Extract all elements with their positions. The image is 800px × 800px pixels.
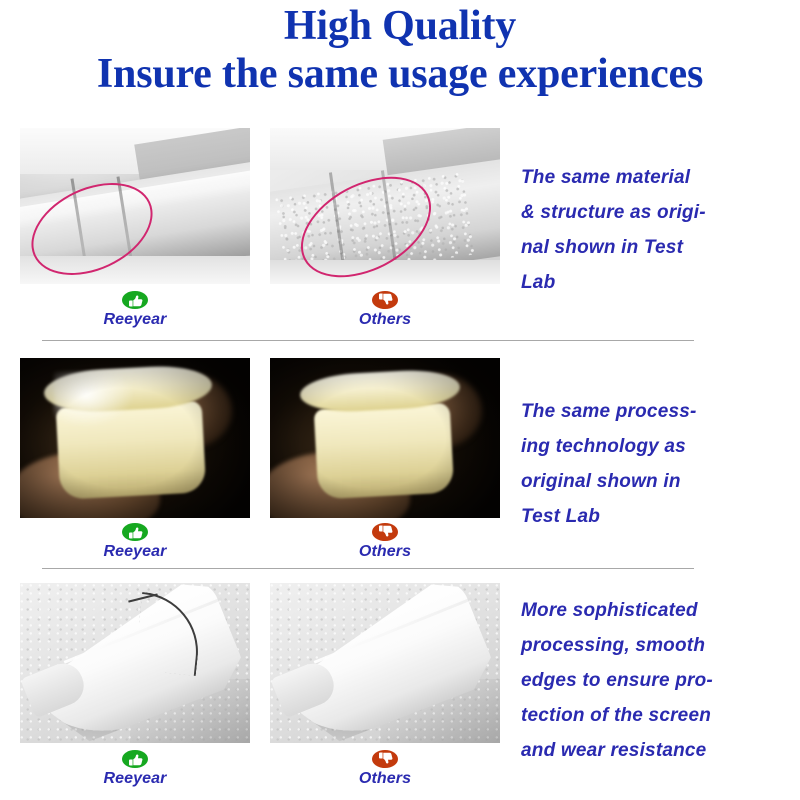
caption-label: Others — [359, 311, 411, 328]
caption-others-row1: Others — [270, 290, 500, 329]
page-title-line1: High Quality — [0, 4, 800, 49]
caption-label: Others — [359, 770, 411, 787]
thumbs-down-circle-icon — [270, 290, 500, 310]
product-photo-reeyear-row2 — [20, 358, 250, 518]
header-block: High Quality Insure the same usage exper… — [0, 0, 800, 98]
caption-reeyear-row3: Reeyear — [20, 749, 250, 788]
caption-label: Others — [359, 543, 411, 560]
caption-others-row2: Others — [270, 522, 500, 561]
feature-text-row3: More sophisticated processing, smooth ed… — [521, 593, 789, 768]
thumbs-down-circle-icon — [270, 522, 500, 542]
thumbs-up-circle-icon — [20, 290, 250, 310]
product-photo-others-row1 — [270, 128, 500, 284]
thumbs-up-circle-icon — [20, 749, 250, 769]
photo-vignette — [270, 358, 500, 518]
product-photo-others-row3 — [270, 583, 500, 743]
product-photo-reeyear-row1 — [20, 128, 250, 284]
page-title-line2: Insure the same usage experiences — [0, 51, 800, 98]
caption-label: Reeyear — [104, 543, 167, 560]
caption-others-row3: Others — [270, 749, 500, 788]
caption-reeyear-row1: Reeyear — [20, 290, 250, 329]
thumbs-up-circle-icon — [20, 522, 250, 542]
caption-label: Reeyear — [104, 770, 167, 787]
feature-text-row1: The same material & structure as origi- … — [521, 160, 789, 300]
feature-text-row2: The same process- ing technology as orig… — [521, 394, 789, 534]
caption-reeyear-row2: Reeyear — [20, 522, 250, 561]
thumbs-down-circle-icon — [270, 749, 500, 769]
photo-vignette — [20, 358, 250, 518]
row-separator-1 — [42, 340, 694, 341]
caption-label: Reeyear — [104, 311, 167, 328]
product-photo-others-row2 — [270, 358, 500, 518]
product-photo-reeyear-row3 — [20, 583, 250, 743]
row-separator-2 — [42, 568, 694, 569]
